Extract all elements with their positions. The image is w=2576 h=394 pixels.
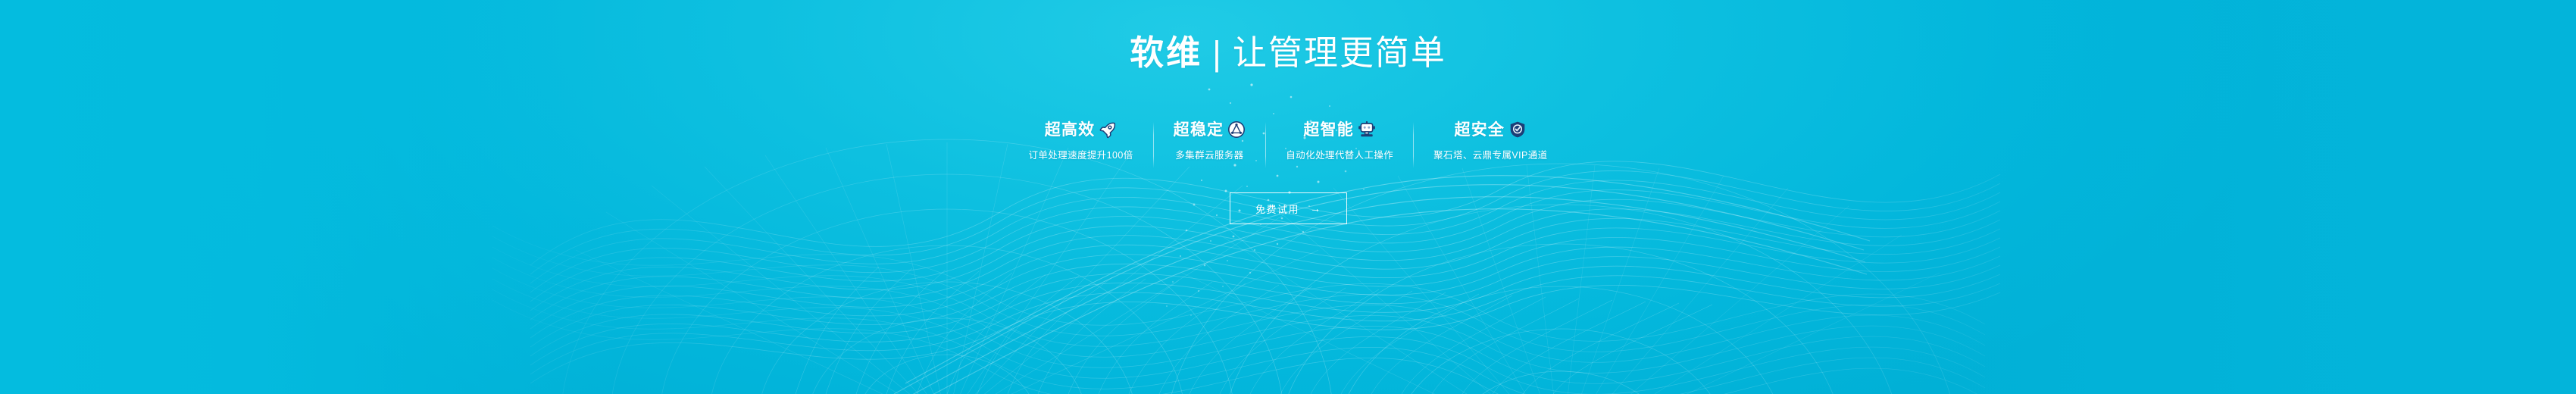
- promo-banner: 软维 | 让管理更简单 超高效 订单处理速度提升100倍: [0, 0, 2576, 394]
- right-edge-fade: [0, 0, 2576, 394]
